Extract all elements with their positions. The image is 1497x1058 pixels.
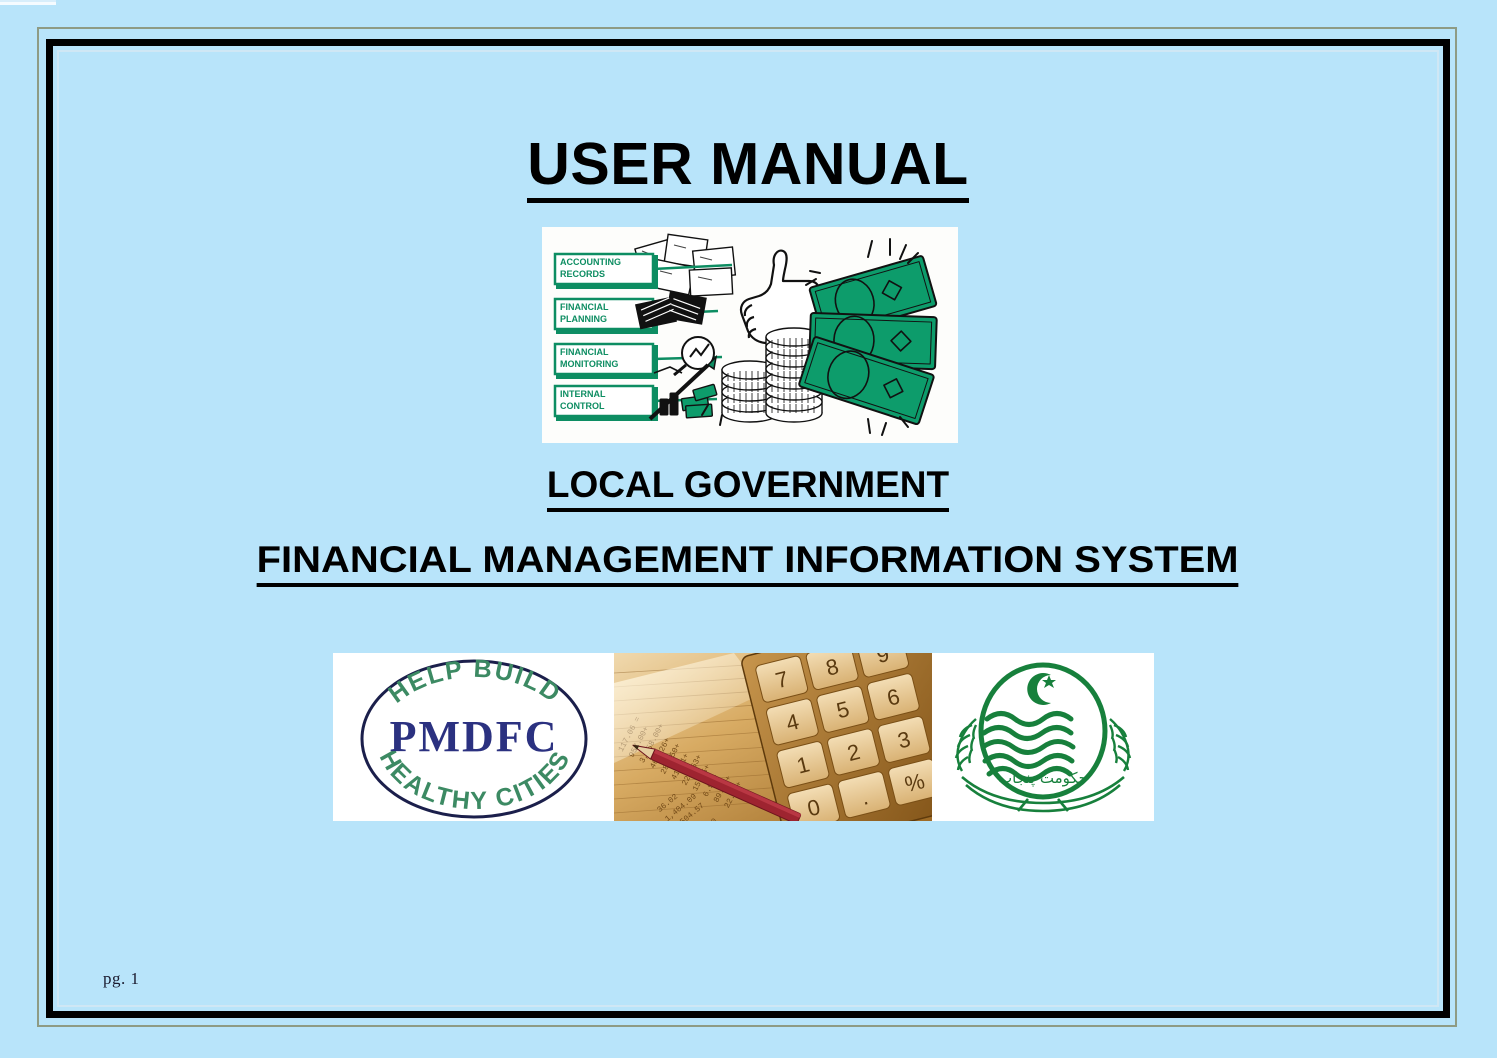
- page-scan-artifact-line: [0, 2, 56, 5]
- svg-text:FINANCIAL: FINANCIAL: [560, 302, 609, 312]
- svg-text:INTERNAL: INTERNAL: [560, 389, 606, 399]
- svg-text:FINANCIAL: FINANCIAL: [560, 347, 609, 357]
- cover-page-content: USER MANUAL ACCOUNTING RECORDS: [59, 52, 1437, 1005]
- svg-text:PLANNING: PLANNING: [560, 314, 607, 324]
- page-title-text: USER MANUAL: [527, 134, 968, 203]
- svg-text:ACCOUNTING: ACCOUNTING: [560, 257, 621, 267]
- calculator-ledger-photo: 3,458.00+ 462.26+ 284.50+ 41.11+ 228.53+…: [614, 653, 932, 821]
- svg-text:CONTROL: CONTROL: [560, 401, 605, 411]
- government-of-punjab-emblem: حکومت پنجاب: [932, 653, 1154, 821]
- logo-strip: HELP BUILD HEALTHY CITIES PMDFC: [333, 653, 1173, 821]
- svg-text:حکومت پنجاب: حکومت پنجاب: [998, 769, 1088, 788]
- svg-text:PMDFC: PMDFC: [390, 712, 559, 761]
- subtitle-local-government-text: LOCAL GOVERNMENT: [547, 465, 949, 512]
- subtitle-local-government: LOCAL GOVERNMENT: [59, 464, 1437, 512]
- subtitle-fmis-text: FINANCIAL MANAGEMENT INFORMATION SYSTEM: [257, 540, 1239, 587]
- subtitle-fmis: FINANCIAL MANAGEMENT INFORMATION SYSTEM: [59, 539, 1437, 587]
- page-number-footer: pg. 1: [103, 969, 140, 989]
- page-title: USER MANUAL: [59, 130, 1437, 203]
- svg-text:RECORDS: RECORDS: [560, 269, 605, 279]
- pmdfc-logo: HELP BUILD HEALTHY CITIES PMDFC: [333, 653, 614, 821]
- hero-illustration: ACCOUNTING RECORDS FINANCIAL PLANNING FI…: [542, 227, 958, 443]
- svg-text:MONITORING: MONITORING: [560, 359, 618, 369]
